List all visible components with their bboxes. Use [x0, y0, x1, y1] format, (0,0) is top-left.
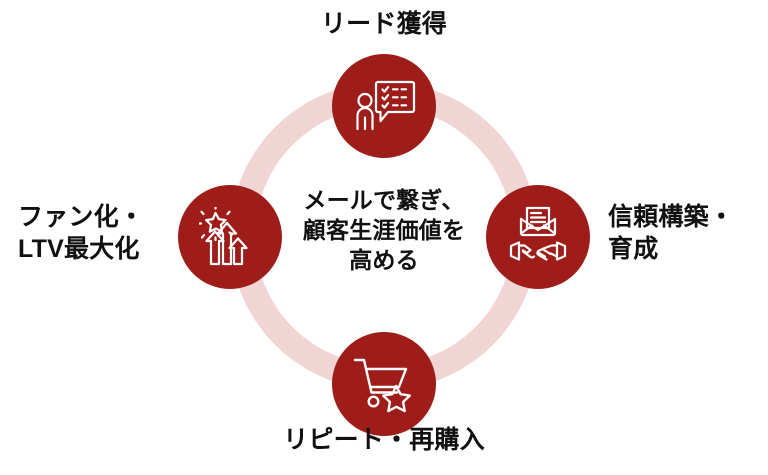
- stage-label-right: 信頼構築・ 育成: [608, 201, 766, 265]
- stage-node-right[interactable]: [486, 185, 590, 289]
- envelope-handshake-icon: [508, 206, 568, 268]
- stage-label-right-line-1: 信頼構築・: [608, 201, 766, 233]
- stage-label-top-line-1: リード獲得: [248, 8, 520, 40]
- shopping-cart-star-icon: [353, 355, 415, 413]
- stage-label-bottom: リピート・再購入: [248, 424, 520, 456]
- stage-node-top[interactable]: [332, 54, 436, 158]
- center-caption-line-1: メールで繋ぎ、: [274, 186, 494, 216]
- person-checklist-bubble-icon: [352, 78, 416, 134]
- stage-node-bottom[interactable]: [332, 332, 436, 436]
- stage-label-bottom-line-1: リピート・再購入: [248, 424, 520, 456]
- cycle-diagram: メールで繋ぎ、 顧客生涯価値を 高める リード獲得 信頼構築・ 育成 リピート・…: [0, 0, 768, 475]
- stage-label-left-line-2: LTV最大化: [18, 233, 176, 265]
- center-caption-line-2: 顧客生涯価値を: [274, 216, 494, 246]
- stage-label-right-line-2: 育成: [608, 233, 766, 265]
- stage-node-left[interactable]: [178, 185, 282, 289]
- stage-label-left: ファン化・ LTV最大化: [18, 201, 176, 265]
- stage-label-left-line-1: ファン化・: [18, 201, 176, 233]
- center-caption: メールで繋ぎ、 顧客生涯価値を 高める: [274, 186, 494, 276]
- center-caption-line-3: 高める: [274, 246, 494, 276]
- stage-label-top: リード獲得: [248, 8, 520, 40]
- sparkle-growth-arrows-icon: [199, 207, 261, 267]
